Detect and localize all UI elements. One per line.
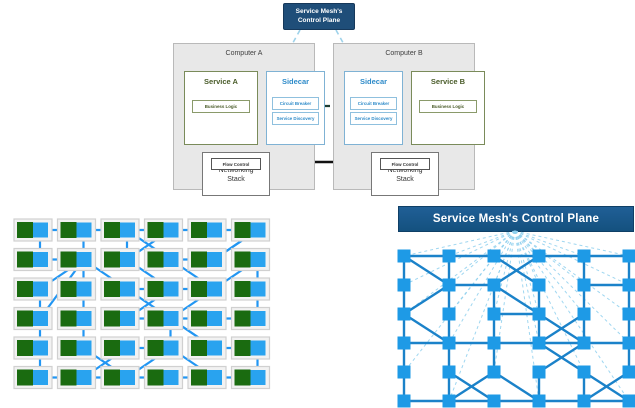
mesh-right-node[interactable] bbox=[398, 308, 411, 321]
sidecar-b-service-discovery-chip[interactable]: Service Discovery bbox=[350, 112, 397, 125]
service-a-title: Service A bbox=[185, 77, 257, 86]
networking-stack-a-line2: Stack bbox=[227, 176, 245, 183]
control-plane-fan-link bbox=[515, 231, 584, 256]
cell-frame bbox=[188, 278, 226, 300]
mesh-left-cell[interactable] bbox=[232, 337, 270, 359]
service-mesh-grid-left bbox=[0, 0, 635, 408]
mesh-right-link bbox=[494, 256, 539, 285]
mesh-left-link bbox=[214, 230, 258, 260]
mesh-right-node[interactable] bbox=[623, 366, 635, 379]
mesh-right-node[interactable] bbox=[623, 337, 635, 350]
sidecar-node bbox=[207, 311, 222, 326]
mesh-left-cell[interactable] bbox=[145, 308, 183, 330]
cell-frame bbox=[101, 278, 139, 300]
service-b-business-logic-chip[interactable]: Business Logic bbox=[419, 100, 477, 113]
cell-frame bbox=[101, 219, 139, 241]
control-plane-fan-link bbox=[494, 231, 515, 372]
mesh-right-node[interactable] bbox=[488, 279, 501, 292]
mesh-left-cell[interactable] bbox=[14, 278, 52, 300]
mesh-left-cell[interactable] bbox=[101, 337, 139, 359]
service-node bbox=[148, 281, 164, 297]
mesh-right-node[interactable] bbox=[398, 250, 411, 263]
mesh-right-link bbox=[584, 372, 629, 401]
mesh-left-cell[interactable] bbox=[145, 367, 183, 389]
cell-frame bbox=[232, 367, 270, 389]
sidecar-node bbox=[77, 282, 92, 297]
cell-frame bbox=[188, 249, 226, 271]
sidecar-node bbox=[164, 223, 179, 238]
service-node bbox=[148, 370, 164, 386]
mesh-right-node[interactable] bbox=[398, 395, 411, 408]
control-plane-fan-link bbox=[404, 231, 515, 372]
sidecar-node bbox=[33, 311, 48, 326]
mesh-left-cell[interactable] bbox=[188, 308, 226, 330]
control-plane-fan-link bbox=[449, 231, 515, 314]
service-node bbox=[61, 311, 77, 327]
control-plane-fan-link bbox=[449, 231, 515, 285]
service-node bbox=[17, 311, 33, 327]
control-plane-banner[interactable]: Service Mesh's Control Plane bbox=[398, 206, 634, 232]
cell-frame bbox=[145, 278, 183, 300]
mesh-left-cell[interactable] bbox=[14, 337, 52, 359]
mesh-right-node[interactable] bbox=[533, 250, 546, 263]
cell-frame bbox=[188, 367, 226, 389]
mesh-left-cell[interactable] bbox=[145, 219, 183, 241]
service-node bbox=[235, 370, 251, 386]
cell-frame bbox=[101, 308, 139, 330]
service-node bbox=[104, 340, 120, 356]
sidecar-b-circuit-breaker-chip[interactable]: Circuit Breaker bbox=[350, 97, 397, 110]
sidecar-b-box[interactable]: Sidecar Circuit Breaker Service Discover… bbox=[344, 71, 403, 145]
service-node bbox=[235, 340, 251, 356]
mesh-right-node[interactable] bbox=[488, 250, 501, 263]
mesh-left-cell[interactable] bbox=[58, 219, 96, 241]
mesh-right-node[interactable] bbox=[578, 395, 591, 408]
cell-frame bbox=[232, 249, 270, 271]
service-node bbox=[104, 222, 120, 238]
sidecar-node bbox=[33, 341, 48, 356]
control-plane-fan-link bbox=[515, 231, 629, 314]
networking-stack-b-line2: Stack bbox=[396, 176, 414, 183]
mesh-left-cell[interactable] bbox=[58, 337, 96, 359]
flow-control-a-chip[interactable]: Flow Control bbox=[211, 158, 261, 170]
mesh-left-cell[interactable] bbox=[232, 308, 270, 330]
service-node bbox=[104, 252, 120, 268]
diagram-canvas: Service Mesh's Control Plane Computer A … bbox=[0, 0, 635, 408]
sidecar-node bbox=[251, 223, 266, 238]
service-a-box[interactable]: Service A Business Logic bbox=[184, 71, 258, 145]
mesh-right-node[interactable] bbox=[488, 308, 501, 321]
cell-frame bbox=[145, 367, 183, 389]
service-node bbox=[17, 222, 33, 238]
mesh-right-link bbox=[494, 256, 539, 285]
sidecar-a-circuit-breaker-chip[interactable]: Circuit Breaker bbox=[272, 97, 319, 110]
cell-frame bbox=[14, 308, 52, 330]
service-node bbox=[191, 340, 207, 356]
cell-frame bbox=[58, 249, 96, 271]
mesh-right-node[interactable] bbox=[443, 279, 456, 292]
sidecar-node bbox=[77, 252, 92, 267]
mesh-right-link bbox=[539, 343, 584, 372]
mesh-left-cell[interactable] bbox=[14, 219, 52, 241]
control-plane-fan-link bbox=[515, 231, 584, 314]
service-node bbox=[148, 252, 164, 268]
control-plane-fan-link bbox=[515, 231, 629, 401]
cell-frame bbox=[101, 367, 139, 389]
control-plane-chip-line2: Control Plane bbox=[298, 17, 340, 25]
mesh-left-cell[interactable] bbox=[101, 278, 139, 300]
mesh-left-link bbox=[127, 289, 171, 319]
mesh-right-node[interactable] bbox=[488, 395, 501, 408]
mesh-right-node[interactable] bbox=[443, 337, 456, 350]
mesh-right-node[interactable] bbox=[578, 279, 591, 292]
service-b-title: Service B bbox=[412, 77, 484, 86]
mesh-left-link bbox=[171, 289, 215, 319]
mesh-left-cell[interactable] bbox=[145, 337, 183, 359]
mesh-left-cell[interactable] bbox=[188, 249, 226, 271]
service-node bbox=[191, 222, 207, 238]
mesh-left-cell[interactable] bbox=[58, 249, 96, 271]
mesh-left-link bbox=[127, 230, 171, 260]
mesh-right-link bbox=[494, 372, 539, 401]
sidecar-node bbox=[164, 311, 179, 326]
sidecar-node bbox=[164, 252, 179, 267]
mesh-right-node[interactable] bbox=[578, 337, 591, 350]
service-a-business-logic-chip[interactable]: Business Logic bbox=[192, 100, 250, 113]
control-plane-fan-link bbox=[515, 231, 629, 343]
sidecar-b-title: Sidecar bbox=[345, 77, 402, 86]
service-node bbox=[148, 222, 164, 238]
service-node bbox=[104, 370, 120, 386]
control-plane-fan-link bbox=[494, 231, 515, 314]
sidecar-node bbox=[164, 341, 179, 356]
computer-b-title: Computer B bbox=[334, 50, 474, 57]
control-plane-fan-link bbox=[404, 231, 515, 256]
sidecar-node bbox=[120, 341, 135, 356]
mesh-right-node[interactable] bbox=[488, 337, 501, 350]
mesh-right-node[interactable] bbox=[443, 395, 456, 408]
mesh-right-node[interactable] bbox=[443, 250, 456, 263]
cell-frame bbox=[188, 337, 226, 359]
cell-frame bbox=[188, 219, 226, 241]
mesh-left-link bbox=[127, 260, 171, 290]
sidecar-node bbox=[77, 370, 92, 385]
cell-frame bbox=[14, 219, 52, 241]
cell-frame bbox=[14, 367, 52, 389]
service-node bbox=[61, 281, 77, 297]
sidecar-node bbox=[207, 282, 222, 297]
control-plane-fan-link bbox=[494, 231, 515, 285]
mesh-right-link bbox=[584, 372, 629, 401]
mesh-left-link bbox=[171, 319, 215, 349]
mesh-left-cell[interactable] bbox=[232, 278, 270, 300]
sidecar-a-title: Sidecar bbox=[267, 77, 324, 86]
cell-frame bbox=[232, 337, 270, 359]
service-node bbox=[17, 281, 33, 297]
control-plane-fan-link bbox=[515, 231, 584, 285]
mesh-right-node[interactable] bbox=[623, 250, 635, 263]
sidecar-a-service-discovery-chip[interactable]: Service Discovery bbox=[272, 112, 319, 125]
control-plane-fan-link bbox=[515, 231, 539, 285]
sidecar-node bbox=[207, 223, 222, 238]
cell-frame bbox=[58, 308, 96, 330]
control-plane-links-layer bbox=[0, 0, 635, 408]
sidecar-node bbox=[164, 370, 179, 385]
sidecar-node bbox=[120, 223, 135, 238]
control-plane-fan-link bbox=[449, 231, 515, 256]
sidecar-node bbox=[207, 370, 222, 385]
mesh-left-link bbox=[214, 230, 258, 260]
sidecar-node bbox=[33, 370, 48, 385]
mesh-left-link bbox=[127, 289, 171, 319]
service-node bbox=[235, 222, 251, 238]
sidecar-node bbox=[120, 282, 135, 297]
control-plane-fan-link bbox=[449, 231, 515, 401]
mesh-left-cell[interactable] bbox=[14, 308, 52, 330]
service-node bbox=[17, 252, 33, 268]
mesh-left-cell[interactable] bbox=[232, 249, 270, 271]
mesh-right-link bbox=[404, 314, 449, 343]
cell-frame bbox=[145, 219, 183, 241]
cell-frame bbox=[232, 219, 270, 241]
control-plane-fan-link bbox=[515, 231, 539, 314]
mesh-right-node[interactable] bbox=[443, 308, 456, 321]
control-plane-fan-link bbox=[515, 231, 539, 256]
service-node bbox=[17, 370, 33, 386]
mesh-right-link bbox=[449, 372, 494, 401]
cell-frame bbox=[232, 308, 270, 330]
service-node bbox=[148, 311, 164, 327]
mesh-left-cell[interactable] bbox=[145, 249, 183, 271]
mesh-left-link bbox=[84, 348, 128, 378]
control-plane-chip-line1: Service Mesh's bbox=[296, 8, 343, 16]
mesh-right-node[interactable] bbox=[533, 279, 546, 292]
mesh-right-link bbox=[449, 372, 494, 401]
sidecar-node bbox=[251, 370, 266, 385]
mesh-left-link bbox=[40, 260, 84, 290]
sidecar-node bbox=[120, 311, 135, 326]
networking-stack-b[interactable]: Flow Control Networking Stack bbox=[371, 152, 439, 196]
service-node bbox=[61, 252, 77, 268]
mesh-left-link bbox=[127, 348, 171, 378]
control-plane-fan-link bbox=[515, 231, 539, 401]
service-node bbox=[17, 340, 33, 356]
mesh-right-link bbox=[539, 314, 584, 343]
cell-frame bbox=[145, 337, 183, 359]
mesh-left-cell[interactable] bbox=[14, 367, 52, 389]
service-b-box[interactable]: Service B Business Logic bbox=[411, 71, 485, 145]
mesh-right-node[interactable] bbox=[578, 308, 591, 321]
control-plane-fan-link bbox=[515, 231, 584, 372]
mesh-right-link bbox=[404, 256, 449, 285]
cell-frame bbox=[14, 337, 52, 359]
control-plane-chip[interactable]: Service Mesh's Control Plane bbox=[283, 3, 355, 30]
mesh-right-node[interactable] bbox=[533, 308, 546, 321]
sidecar-node bbox=[207, 252, 222, 267]
service-node bbox=[191, 311, 207, 327]
service-node bbox=[191, 370, 207, 386]
service-node bbox=[104, 311, 120, 327]
sidecar-node bbox=[77, 341, 92, 356]
networking-stack-a[interactable]: Flow Control Networking Stack bbox=[202, 152, 270, 196]
service-node bbox=[148, 340, 164, 356]
mesh-right-node[interactable] bbox=[578, 366, 591, 379]
mesh-left-cell[interactable] bbox=[145, 278, 183, 300]
sidecar-node bbox=[251, 311, 266, 326]
service-node bbox=[61, 340, 77, 356]
mesh-right-node[interactable] bbox=[533, 366, 546, 379]
cell-frame bbox=[101, 337, 139, 359]
mesh-right-link bbox=[539, 343, 584, 372]
mesh-right-link bbox=[539, 314, 584, 343]
service-node bbox=[235, 311, 251, 327]
mesh-left-cell[interactable] bbox=[14, 249, 52, 271]
sidecar-node bbox=[33, 282, 48, 297]
control-plane-fan-link bbox=[494, 231, 515, 256]
control-plane-fan-link bbox=[404, 231, 515, 285]
cell-frame bbox=[101, 249, 139, 271]
cell-frame bbox=[14, 278, 52, 300]
service-mesh-grid-right bbox=[0, 0, 635, 408]
mesh-left-cell[interactable] bbox=[101, 219, 139, 241]
mesh-left-cell[interactable] bbox=[101, 308, 139, 330]
sidecar-node bbox=[120, 370, 135, 385]
mesh-left-cell[interactable] bbox=[188, 219, 226, 241]
service-node bbox=[61, 222, 77, 238]
mesh-left-link bbox=[171, 260, 215, 290]
mesh-left-cell[interactable] bbox=[232, 219, 270, 241]
mesh-left-link bbox=[84, 260, 128, 290]
sidecar-node bbox=[77, 223, 92, 238]
control-plane-fan-link bbox=[515, 231, 539, 343]
mesh-right-node[interactable] bbox=[398, 279, 411, 292]
mesh-right-node[interactable] bbox=[533, 395, 546, 408]
cell-frame bbox=[58, 278, 96, 300]
cell-frame bbox=[145, 308, 183, 330]
mesh-left-cell[interactable] bbox=[188, 367, 226, 389]
flow-control-b-chip[interactable]: Flow Control bbox=[380, 158, 430, 170]
service-node bbox=[235, 281, 251, 297]
cell-frame bbox=[232, 278, 270, 300]
mesh-right-node[interactable] bbox=[398, 337, 411, 350]
cell-frame bbox=[14, 249, 52, 271]
service-node bbox=[61, 370, 77, 386]
computer-a-title: Computer A bbox=[174, 50, 314, 57]
sidecar-node bbox=[33, 223, 48, 238]
mesh-left-cell[interactable] bbox=[101, 367, 139, 389]
mesh-left-link bbox=[127, 230, 171, 260]
mesh-left-link bbox=[84, 348, 128, 378]
mesh-left-cell[interactable] bbox=[188, 337, 226, 359]
sidecar-a-box[interactable]: Sidecar Circuit Breaker Service Discover… bbox=[266, 71, 325, 145]
control-plane-fan-link bbox=[515, 231, 629, 256]
mesh-left-cell[interactable] bbox=[58, 367, 96, 389]
sidecar-node bbox=[120, 252, 135, 267]
sidecar-node bbox=[251, 252, 266, 267]
mesh-left-link bbox=[214, 260, 258, 290]
mesh-right-node[interactable] bbox=[488, 366, 501, 379]
sidecar-node bbox=[251, 341, 266, 356]
computer-b-panel[interactable]: Computer B Sidecar Circuit Breaker Servi… bbox=[333, 43, 475, 190]
control-plane-fan-link bbox=[404, 231, 515, 314]
mesh-right-link bbox=[404, 285, 449, 314]
mesh-left-cell[interactable] bbox=[101, 249, 139, 271]
service-node bbox=[191, 252, 207, 268]
mesh-right-node[interactable] bbox=[443, 366, 456, 379]
control-plane-fan-link bbox=[515, 231, 629, 285]
sidecar-node bbox=[251, 282, 266, 297]
sidecar-node bbox=[77, 311, 92, 326]
control-plane-banner-title: Service Mesh's Control Plane bbox=[433, 213, 599, 225]
cell-frame bbox=[188, 308, 226, 330]
mesh-right-node[interactable] bbox=[623, 308, 635, 321]
mesh-left-link bbox=[40, 260, 84, 319]
cell-frame bbox=[58, 219, 96, 241]
control-plane-fan-link bbox=[449, 231, 515, 343]
sidecar-node bbox=[164, 282, 179, 297]
mesh-left-link bbox=[171, 348, 215, 378]
mesh-left-cell[interactable] bbox=[188, 278, 226, 300]
mesh-right-node[interactable] bbox=[623, 395, 635, 408]
cell-frame bbox=[58, 337, 96, 359]
cell-frame bbox=[145, 249, 183, 271]
sidecar-node bbox=[33, 252, 48, 267]
service-node bbox=[235, 252, 251, 268]
mesh-right-node[interactable] bbox=[398, 366, 411, 379]
computer-a-panel[interactable]: Computer A Service A Business Logic Side… bbox=[173, 43, 315, 190]
mesh-right-node[interactable] bbox=[533, 337, 546, 350]
mesh-left-link bbox=[171, 319, 215, 349]
service-node bbox=[104, 281, 120, 297]
mesh-right-node[interactable] bbox=[578, 250, 591, 263]
mesh-left-cell[interactable] bbox=[58, 278, 96, 300]
mesh-left-cell[interactable] bbox=[58, 308, 96, 330]
mesh-right-link bbox=[494, 285, 539, 314]
mesh-left-cell[interactable] bbox=[232, 367, 270, 389]
cell-frame bbox=[58, 367, 96, 389]
service-node bbox=[191, 281, 207, 297]
mesh-right-node[interactable] bbox=[623, 279, 635, 292]
sidecar-node bbox=[207, 341, 222, 356]
